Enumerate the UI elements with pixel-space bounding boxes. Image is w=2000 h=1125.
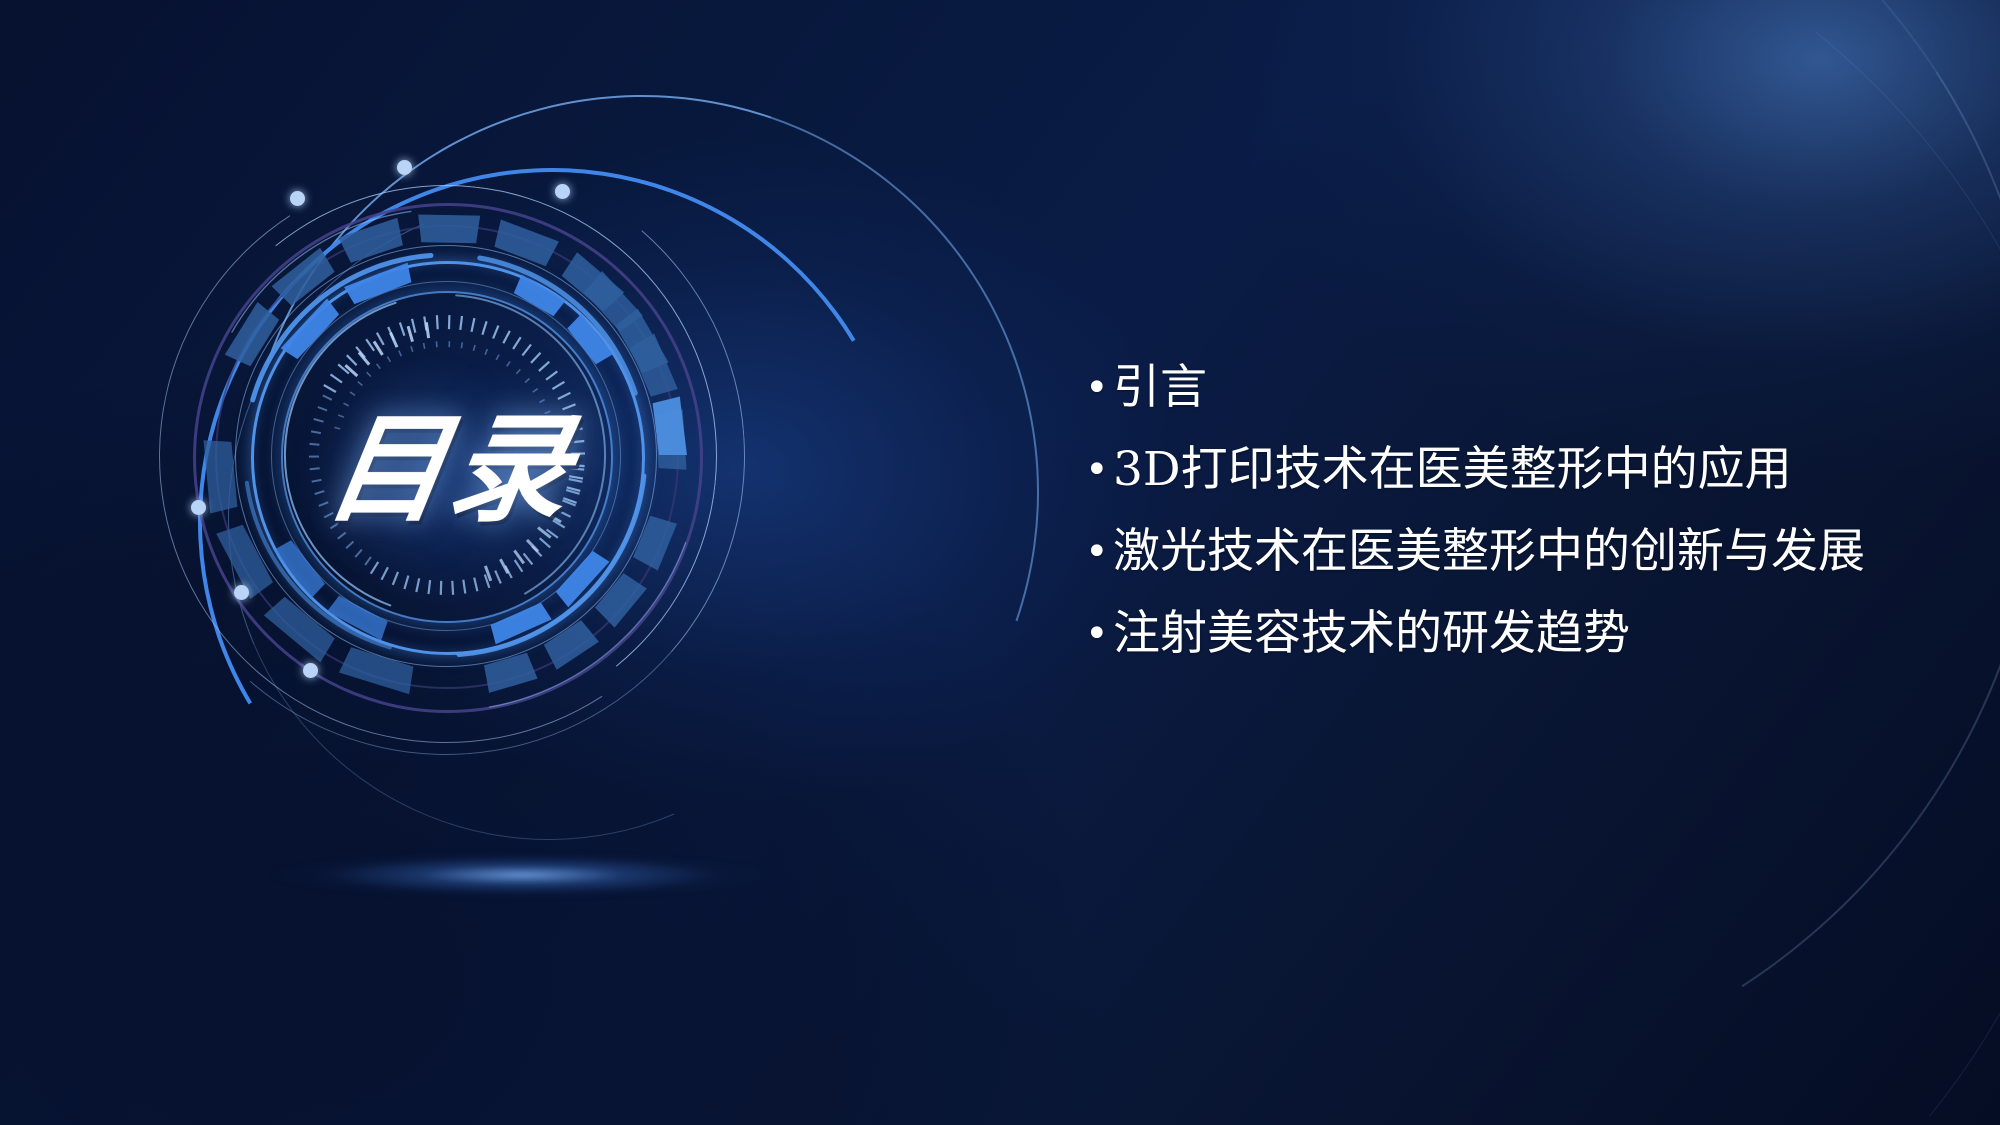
- hud-node-dot: [303, 663, 318, 678]
- bullet-icon: •: [1085, 598, 1113, 670]
- hud-title-text: 目录: [320, 410, 583, 528]
- agenda-list: • 引言 • 3D打印技术在医美整形中的应用 • 激光技术在医美整形中的创新与发…: [1085, 352, 1915, 680]
- hud-node-dot: [555, 184, 570, 199]
- hud-node-dot: [234, 585, 249, 600]
- hud-graphic: 目录: [205, 215, 685, 695]
- list-item[interactable]: • 注射美容技术的研发趋势: [1085, 598, 1915, 670]
- list-item[interactable]: • 3D打印技术在医美整形中的应用: [1085, 434, 1915, 506]
- bullet-icon: •: [1085, 516, 1113, 588]
- hud-title: 目录: [205, 215, 685, 695]
- list-item[interactable]: • 激光技术在医美整形中的创新与发展: [1085, 516, 1915, 588]
- list-item-label: 引言: [1113, 352, 1915, 424]
- hud-node-dot: [290, 191, 305, 206]
- list-item[interactable]: • 引言: [1085, 352, 1915, 424]
- list-item-label: 注射美容技术的研发趋势: [1113, 598, 1915, 670]
- slide-canvas: 目录 • 引言 • 3D打印技术在医美整形中的应用 • 激光技术在医美整形中的创…: [0, 0, 2000, 1125]
- list-item-label: 3D打印技术在医美整形中的应用: [1113, 434, 1915, 506]
- bottom-light-streak: [170, 845, 810, 905]
- bullet-icon: •: [1085, 434, 1113, 506]
- list-item-label: 激光技术在医美整形中的创新与发展: [1113, 516, 1915, 588]
- hud-node-dot: [191, 500, 206, 515]
- bullet-icon: •: [1085, 352, 1113, 424]
